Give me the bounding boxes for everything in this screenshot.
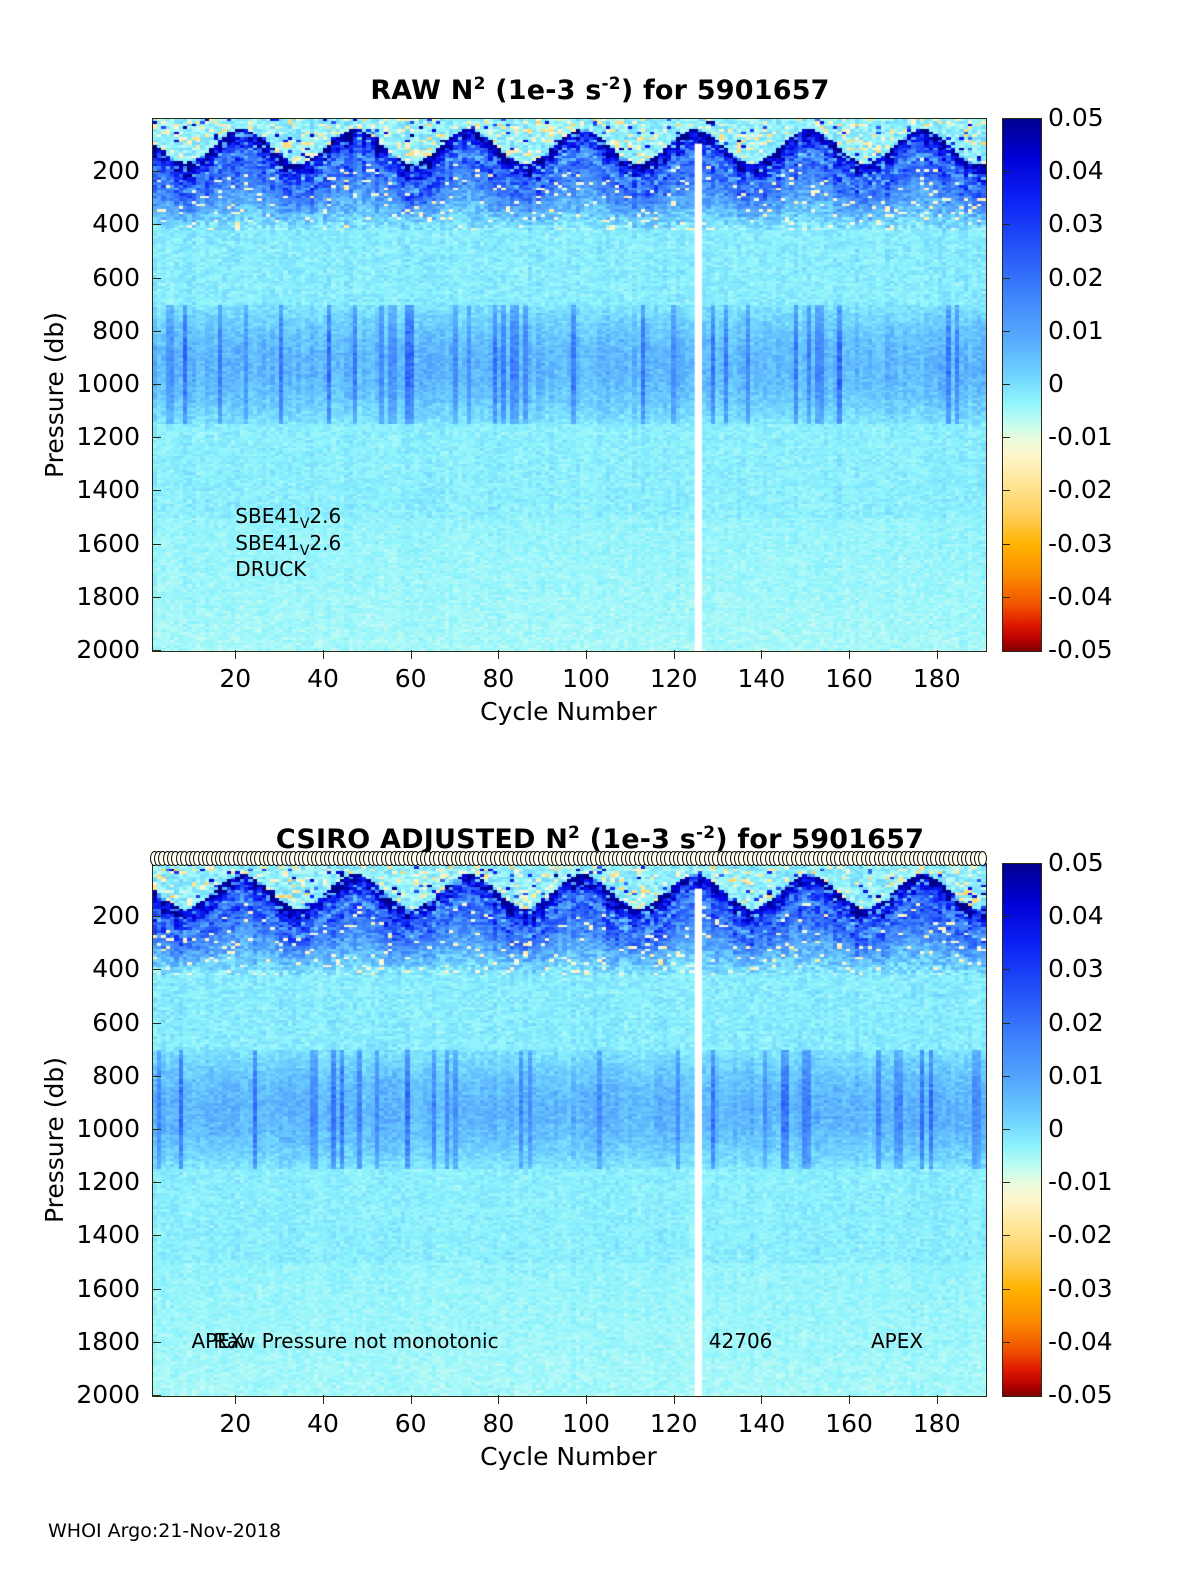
y-tick-label: 200 (30, 903, 140, 928)
colorbar-tick-mark (1002, 384, 1010, 385)
colorbar-tick-label: -0.03 (1048, 1276, 1113, 1301)
x-tick-label: 180 (897, 666, 977, 691)
x-tick-mark (323, 1395, 324, 1404)
y-tick-mark (152, 544, 161, 545)
x-tick-label: 80 (458, 666, 538, 691)
y-tick-mark (152, 1023, 161, 1024)
y-tick-mark (152, 1395, 161, 1396)
colorbar-tick-label: 0.05 (1048, 105, 1104, 130)
colorbar-tick-mark (1002, 1023, 1010, 1024)
annotation-text-2: 2.6 (309, 504, 341, 528)
plot-annotation: SBE41V2.6 (235, 504, 341, 532)
colorbar-tick-label: -0.01 (1048, 1169, 1113, 1194)
x-tick-label: 80 (458, 1411, 538, 1436)
x-tick-mark (761, 1395, 762, 1404)
colorbar-tick-label: 0.04 (1048, 903, 1104, 928)
colorbar-tick-mark (1002, 331, 1010, 332)
colorbar-tick-mark (1002, 916, 1010, 917)
colorbar-tick-mark (1002, 969, 1010, 970)
colorbar-tick-mark (1002, 597, 1010, 598)
x-tick-label: 100 (546, 1411, 626, 1436)
y-tick-mark (152, 490, 161, 491)
plot-annotation: Raw Pressure not monotonic (213, 1329, 498, 1353)
y-tick-mark (152, 437, 161, 438)
colorbar-tick-mark (1002, 278, 1010, 279)
y-tick-mark (152, 969, 161, 970)
y-tick-label: 1800 (30, 584, 140, 609)
annotation-subscript: V (300, 516, 310, 532)
y-tick-label: 1400 (30, 1222, 140, 1247)
y-tick-label: 600 (30, 265, 140, 290)
x-tick-mark (586, 1395, 587, 1404)
y-tick-label: 800 (30, 318, 140, 343)
plot-annotation: SBE41V2.6 (235, 531, 341, 559)
colorbar-tick-mark (1002, 1076, 1010, 1077)
x-tick-label: 140 (721, 666, 801, 691)
x-tick-mark (849, 650, 850, 659)
y-tick-label: 400 (30, 956, 140, 981)
x-axis-label-raw: Cycle Number (152, 697, 985, 726)
annotation-text: SBE41 (235, 531, 300, 555)
colorbar-raw (1002, 118, 1042, 652)
x-tick-label: 120 (634, 666, 714, 691)
colorbar-tick-label: -0.02 (1048, 477, 1113, 502)
colorbar-tick-label: -0.05 (1048, 1382, 1113, 1407)
x-tick-label: 140 (721, 1411, 801, 1436)
panel-raw-title-suffix: ) for 5901657 (621, 75, 830, 106)
y-tick-mark (152, 384, 161, 385)
annotation-subscript: V (300, 543, 310, 559)
y-tick-label: 600 (30, 1010, 140, 1035)
colorbar-tick-mark (1002, 1182, 1010, 1183)
x-tick-mark (498, 650, 499, 659)
x-tick-mark (761, 650, 762, 659)
x-tick-mark (586, 650, 587, 659)
colorbar-tick-mark (1002, 1342, 1010, 1343)
colorbar-tick-mark (1002, 224, 1010, 225)
x-tick-label: 100 (546, 666, 626, 691)
x-tick-mark (937, 1395, 938, 1404)
colorbar-tick-label: 0.02 (1048, 265, 1104, 290)
colorbar-tick-label: 0 (1048, 371, 1064, 396)
y-tick-label: 1800 (30, 1329, 140, 1354)
y-tick-label: 1000 (30, 371, 140, 396)
x-tick-label: 120 (634, 1411, 714, 1436)
cycle-marker-row (152, 851, 985, 868)
y-tick-label: 400 (30, 211, 140, 236)
annotation-text: SBE41 (235, 504, 300, 528)
x-tick-mark (323, 650, 324, 659)
y-tick-mark (152, 650, 161, 651)
y-tick-mark (152, 597, 161, 598)
colorbar-tick-mark (1002, 1129, 1010, 1130)
y-tick-mark (152, 1129, 161, 1130)
x-tick-label: 40 (283, 1411, 363, 1436)
x-tick-mark (674, 650, 675, 659)
y-tick-label: 1600 (30, 531, 140, 556)
x-tick-mark (411, 650, 412, 659)
y-tick-label: 2000 (30, 637, 140, 662)
x-tick-label: 60 (371, 666, 451, 691)
x-tick-label: 60 (371, 1411, 451, 1436)
annotation-text-2: 2.6 (309, 531, 341, 555)
y-tick-mark (152, 916, 161, 917)
x-tick-label: 180 (897, 1411, 977, 1436)
y-tick-label: 1400 (30, 477, 140, 502)
plot-annotation: APEX (871, 1329, 923, 1353)
y-tick-label: 1000 (30, 1116, 140, 1141)
colorbar-tick-label: -0.04 (1048, 1329, 1113, 1354)
colorbar-tick-mark (1002, 1289, 1010, 1290)
y-tick-label: 1600 (30, 1276, 140, 1301)
x-tick-mark (849, 1395, 850, 1404)
x-tick-label: 40 (283, 666, 363, 691)
heatmap-adjusted (153, 864, 986, 1396)
x-tick-label: 20 (195, 666, 275, 691)
y-tick-label: 1200 (30, 424, 140, 449)
x-tick-mark (411, 1395, 412, 1404)
colorbar-tick-mark (1002, 1235, 1010, 1236)
y-tick-label: 2000 (30, 1382, 140, 1407)
panel-adjusted: CSIRO ADJUSTED N2 (1e-3 s-2) for 5901657… (0, 745, 1200, 1525)
colorbar-adjusted (1002, 863, 1042, 1397)
colorbar-tick-mark (1002, 171, 1010, 172)
y-tick-mark (152, 1076, 161, 1077)
y-tick-mark (152, 224, 161, 225)
panel-adjusted-title-sup2: -2 (696, 823, 715, 843)
panel-raw-title-sup2: -2 (602, 74, 621, 94)
colorbar-tick-label: 0.05 (1048, 850, 1104, 875)
panel-raw-title-mid: (1e-3 s (486, 75, 602, 106)
panel-raw-title-prefix: RAW N (370, 75, 473, 106)
plot-annotation: 42706 (709, 1329, 773, 1353)
y-tick-mark (152, 1235, 161, 1236)
colorbar-tick-label: 0 (1048, 1116, 1064, 1141)
colorbar-tick-label: 0.03 (1048, 956, 1104, 981)
y-tick-label: 200 (30, 158, 140, 183)
colorbar-tick-label: 0.03 (1048, 211, 1104, 236)
colorbar-tick-label: -0.01 (1048, 424, 1113, 449)
x-tick-mark (674, 1395, 675, 1404)
x-axis-label-adjusted: Cycle Number (152, 1442, 985, 1471)
panel-raw-title: RAW N2 (1e-3 s-2) for 5901657 (0, 74, 1200, 106)
colorbar-tick-mark (1002, 437, 1010, 438)
panel-raw: RAW N2 (1e-3 s-2) for 5901657 Pressure (… (0, 0, 1200, 760)
colorbar-tick-label: -0.04 (1048, 584, 1113, 609)
x-tick-mark (235, 650, 236, 659)
y-tick-mark (152, 278, 161, 279)
x-tick-label: 160 (809, 666, 889, 691)
colorbar-tick-label: -0.02 (1048, 1222, 1113, 1247)
colorbar-tick-label: -0.05 (1048, 637, 1113, 662)
colorbar-tick-label: 0.04 (1048, 158, 1104, 183)
x-tick-mark (937, 650, 938, 659)
y-tick-mark (152, 331, 161, 332)
y-tick-label: 800 (30, 1063, 140, 1088)
colorbar-tick-label: 0.01 (1048, 1063, 1104, 1088)
y-tick-mark (152, 171, 161, 172)
y-tick-mark (152, 1289, 161, 1290)
y-tick-mark (152, 1342, 161, 1343)
x-tick-label: 160 (809, 1411, 889, 1436)
x-tick-label: 20 (195, 1411, 275, 1436)
x-tick-mark (498, 1395, 499, 1404)
y-tick-mark (152, 1182, 161, 1183)
colorbar-tick-label: 0.02 (1048, 1010, 1104, 1035)
panel-raw-title-sup: 2 (474, 74, 486, 94)
colorbar-tick-mark (1002, 490, 1010, 491)
colorbar-tick-label: -0.03 (1048, 531, 1113, 556)
colorbar-tick-mark (1002, 544, 1010, 545)
x-tick-mark (235, 1395, 236, 1404)
plot-area-adjusted (152, 863, 987, 1397)
y-tick-label: 1200 (30, 1169, 140, 1194)
panel-adjusted-title-sup: 2 (568, 823, 580, 843)
footer-credit: WHOI Argo:21-Nov-2018 (48, 1520, 281, 1542)
plot-annotation: DRUCK (235, 557, 306, 581)
colorbar-tick-label: 0.01 (1048, 318, 1104, 343)
